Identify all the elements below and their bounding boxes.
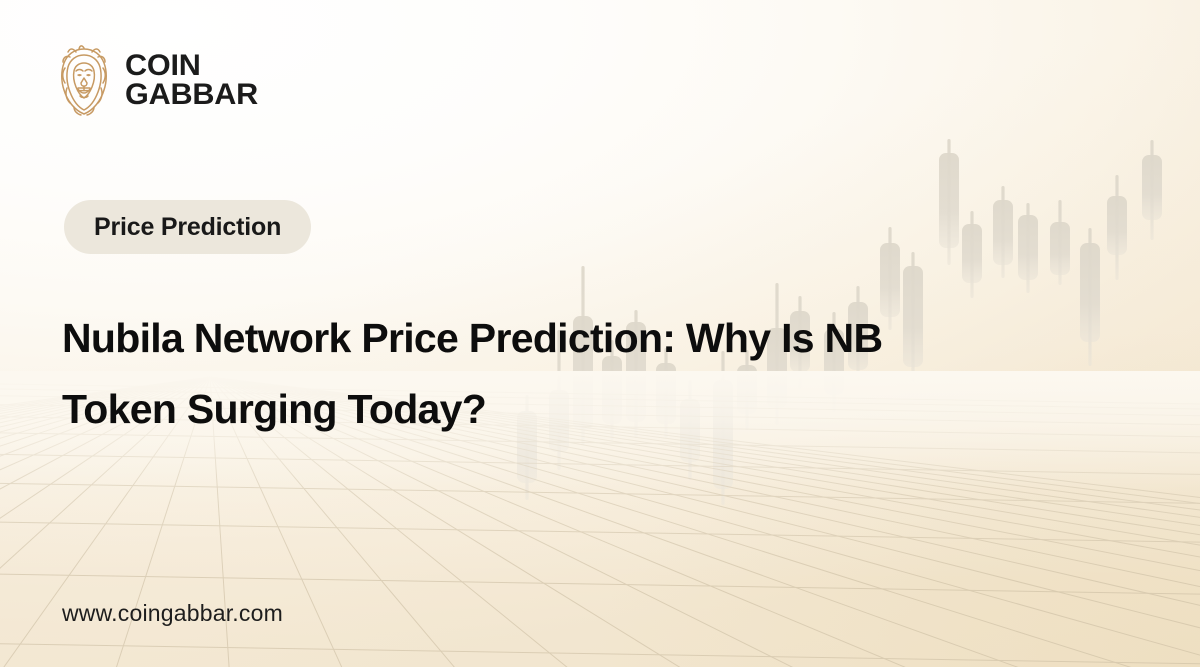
site-url[interactable]: www.coingabbar.com (62, 600, 283, 627)
lion-head-icon (56, 44, 112, 118)
category-badge-label: Price Prediction (94, 213, 281, 242)
brand-name-line2: GABBAR (125, 81, 258, 110)
brand-logo[interactable]: COIN GABBAR (56, 44, 255, 118)
brand-name-line1: COIN (125, 52, 258, 81)
price-prediction-banner: COIN GABBAR Price Prediction Nubila Netw… (0, 0, 1200, 667)
category-badge[interactable]: Price Prediction (64, 200, 311, 254)
brand-wordmark: COIN GABBAR (125, 52, 255, 110)
page-title-line1: Nubila Network Price Prediction: Why Is … (62, 303, 1122, 374)
page-title: Nubila Network Price Prediction: Why Is … (62, 303, 1122, 445)
page-title-line2: Token Surging Today? (62, 374, 1122, 445)
